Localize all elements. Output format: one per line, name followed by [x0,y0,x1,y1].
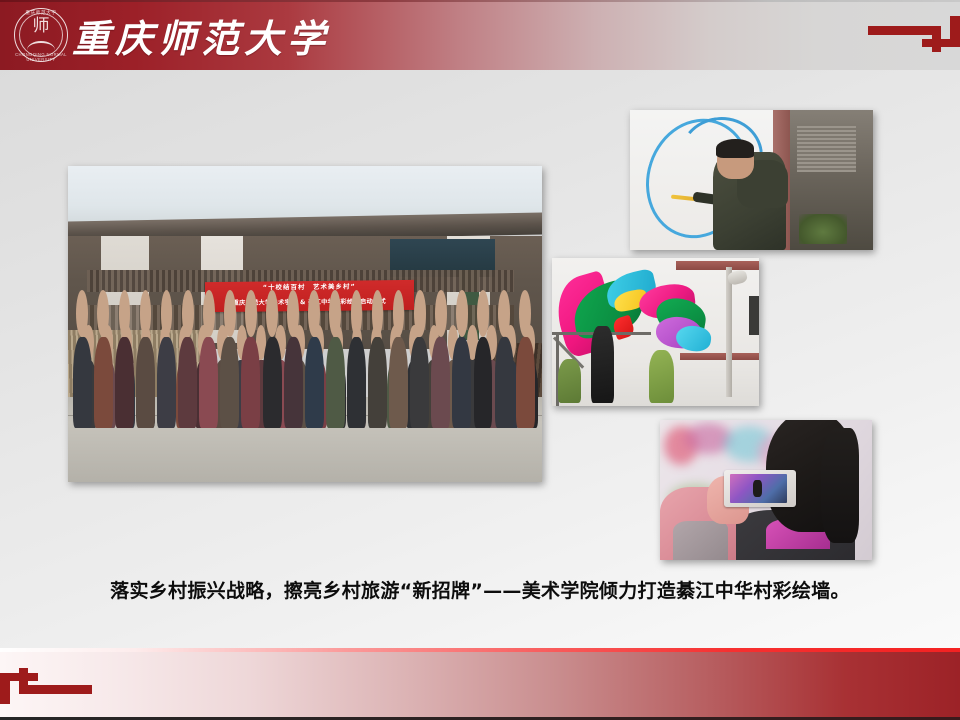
person-silhouette [284,337,303,428]
person-silhouette [431,337,450,428]
photo-artist-sketching-wall [630,110,873,250]
visitor-ponytail [821,428,859,543]
person-silhouette [199,337,218,428]
university-name-title: 重庆师范大学 [72,9,330,61]
mural-photo-content [552,258,759,406]
photo-visitor-filming-mural [660,420,872,560]
painter-green-poncho [649,350,674,403]
slide-footer-band [0,652,960,720]
university-seal-logo: 重庆师范大学 师 CHONGQING NORMAL UNIVERSITY [14,8,68,62]
wall-trim-bottom [680,353,759,360]
person-silhouette [241,337,260,428]
photo-phoenix-mural-painting [552,258,759,406]
person-silhouette [516,337,535,428]
person-silhouette [368,337,387,428]
slide-caption: 落实乡村振兴战略，擦亮乡村旅游“新招牌”——美术学院倾力打造綦江中华村彩绘墙。 [0,576,960,603]
person-silhouette [157,337,176,428]
artist-hair [716,139,754,157]
slide-header-band: 重庆师范大学 师 CHONGQING NORMAL UNIVERSITY 重庆师… [0,0,960,70]
person-silhouette [474,337,493,428]
person-silhouette [326,337,345,428]
person-silhouette [94,337,113,428]
person-silhouette [389,337,408,428]
top-right-corner-ornament [864,8,960,60]
crowd-of-people [68,311,542,428]
banner-line-1: “十校结百村 艺术美乡村” [205,281,414,292]
visitor-sleeve [673,521,728,560]
wall-trim-top [676,261,759,270]
person-silhouette [73,337,92,428]
drain-pipe [726,267,732,397]
seal-center-glyph: 师 [14,18,68,35]
person-silhouette [115,337,134,428]
header-top-rule [0,0,960,2]
dark-window [749,296,759,334]
person-silhouette [410,337,429,428]
person-silhouette [347,337,366,428]
group-photo-ceremony: “十校结百村 艺术美乡村” 重庆师范大学美术学院 & 綦江中华村彩绘墙启动仪式 [68,166,542,482]
person-silhouette [178,337,197,428]
person-silhouette [305,337,324,428]
bottom-left-corner-ornament [0,660,96,712]
person-silhouette [136,337,155,428]
outdoor-background [790,110,873,250]
sketch-photo-content [630,110,873,250]
smartphone-screen [730,474,787,503]
person-silhouette [220,337,239,428]
seal-arc-bottom-text: CHONGQING NORMAL UNIVERSITY [14,52,68,62]
person-silhouette [495,337,514,428]
presentation-slide: 重庆师范大学 师 CHONGQING NORMAL UNIVERSITY 重庆师… [0,0,960,720]
person-silhouette [263,337,282,428]
group-photo-content: “十校结百村 艺术美乡村” 重庆师范大学美术学院 & 綦江中华村彩绘墙启动仪式 [68,166,542,482]
painter-crouching [558,359,581,403]
filming-photo-content [660,420,872,560]
painter-standing-black-coat [591,326,614,403]
person-silhouette [452,337,471,428]
